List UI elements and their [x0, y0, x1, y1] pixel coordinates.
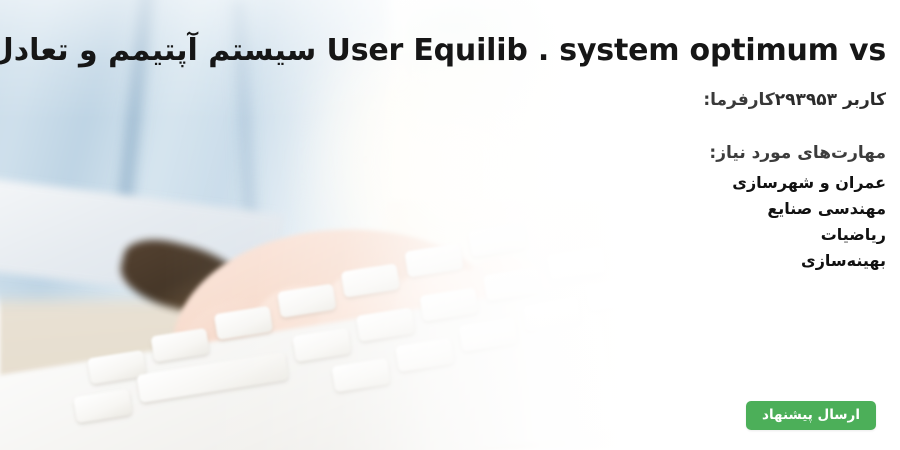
job-listing-card: User Equilib . system optimum vs سیستم آ… — [0, 0, 900, 450]
submit-proposal-button[interactable]: ارسال پیشنهاد — [746, 401, 876, 430]
skills-section: مهارت‌های مورد نیاز: عمران و شهرسازی مهن… — [709, 140, 886, 274]
employer-label: کارفرما: — [703, 90, 774, 110]
skill-item: مهندسی صنایع — [709, 196, 886, 222]
project-title: User Equilib . system optimum vs سیستم آ… — [0, 31, 886, 72]
skill-item: ریاضیات — [709, 222, 886, 248]
employer-value: کاربر ۲۹۳۹۵۳ — [775, 90, 886, 110]
skills-heading: مهارت‌های مورد نیاز: — [709, 140, 886, 166]
employer-line: کاربر ۲۹۳۹۵۳کارفرما: — [695, 90, 886, 110]
skill-item: عمران و شهرسازی — [709, 170, 886, 196]
card-content: User Equilib . system optimum vs سیستم آ… — [0, 0, 900, 450]
skill-item: بهینه‌سازی — [709, 248, 886, 274]
